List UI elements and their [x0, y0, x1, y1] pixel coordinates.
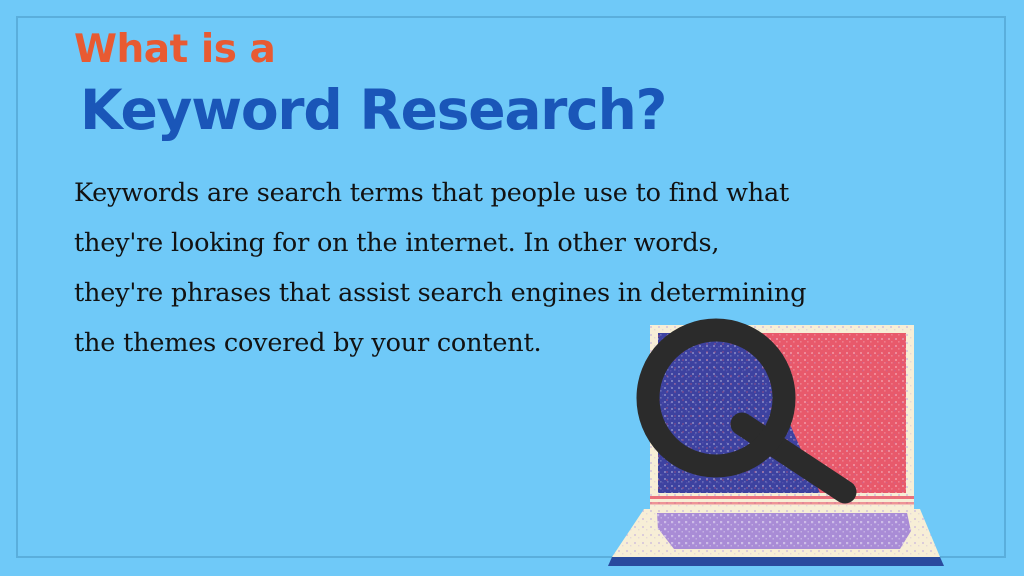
eyebrow-heading: What is a [74, 30, 275, 69]
page-title: Keyword Research? [80, 83, 666, 138]
paragraph-line-3: they're phrases that assist search engin… [74, 268, 864, 318]
laptop-illustration [600, 316, 960, 568]
paragraph-line-1: Keywords are search terms that people us… [74, 168, 864, 218]
laptop-base [608, 509, 944, 566]
paragraph-line-2: they're looking for on the internet. In … [74, 218, 864, 268]
slide-canvas: What is a Keyword Research? Keywords are… [0, 0, 1024, 576]
